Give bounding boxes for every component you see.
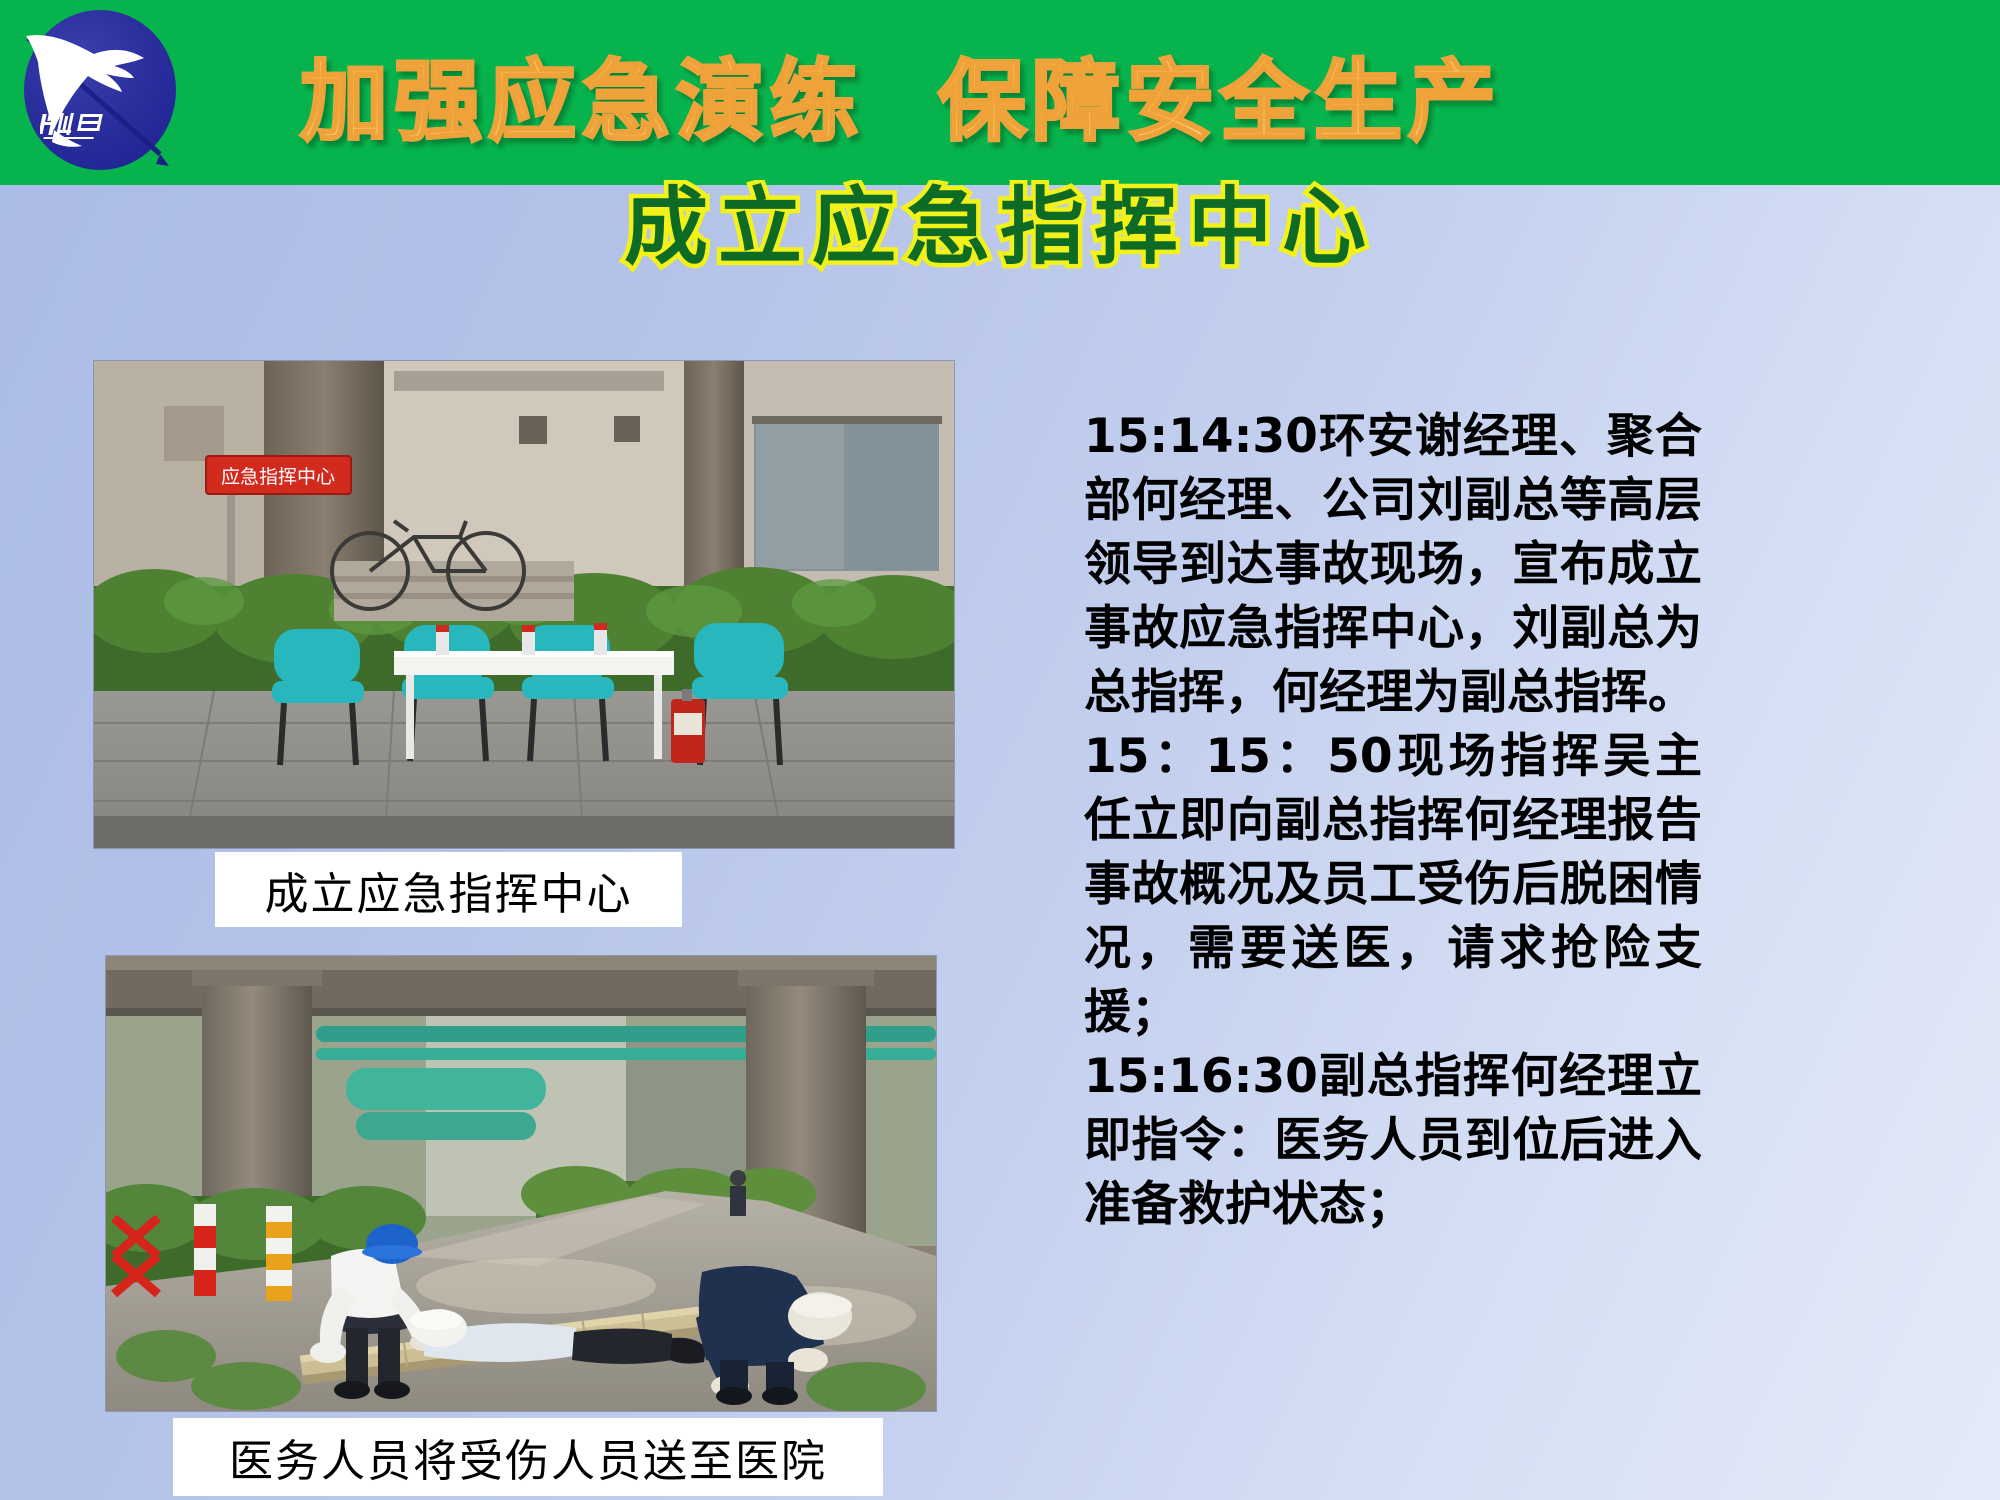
page-title-art: 成立应急指挥中心 xyxy=(0,180,2000,276)
banner-headline-right: 保障安全生产 xyxy=(938,31,1502,158)
timeline-paragraph-2: 15：15：50现场指挥吴主任立即向副总指挥何经理报告事故概况及员工受伤后脱困情… xyxy=(1084,725,1702,1045)
header-banner: 加强应急演练 保障安全生产 xyxy=(0,0,2000,185)
page-title: 成立应急指挥中心 xyxy=(0,180,2000,276)
incident-timeline-text: 15:14:30环安谢经理、聚合部何经理、公司刘副总等高层领导到达事故现场，宣布… xyxy=(1084,405,1702,1237)
injured-transport-photo xyxy=(105,955,937,1412)
timeline-paragraph-1: 15:14:30环安谢经理、聚合部何经理、公司刘副总等高层领导到达事故现场，宣布… xyxy=(1084,405,1702,725)
banner-headline-left: 加强应急演练 xyxy=(300,31,864,158)
svg-text:应急指挥中心: 应急指挥中心 xyxy=(221,466,335,488)
photo-caption-2: 医务人员将受伤人员送至医院 xyxy=(173,1418,883,1496)
timeline-paragraph-3: 15:16:30副总指挥何经理立即指令：医务人员到位后进入准备救护状态； xyxy=(1084,1045,1702,1237)
photo-caption-1: 成立应急指挥中心 xyxy=(215,852,682,927)
timestamp-3: 15:16:30 xyxy=(1084,1049,1318,1104)
banner-headline: 加强应急演练 保障安全生产 xyxy=(300,34,1990,154)
slide-canvas: 加强应急演练 保障安全生产 成立应急指挥中心 xyxy=(0,0,2000,1500)
page-title-label: 成立应急指挥中心 xyxy=(624,180,1376,276)
eagle-icon xyxy=(10,4,190,179)
company-logo xyxy=(10,4,190,179)
emergency-command-center-photo: 应急指挥中心 xyxy=(93,360,955,849)
timestamp-2: 15：15：50 xyxy=(1084,729,1393,784)
logo-wordmark xyxy=(40,108,130,142)
timestamp-1: 15:14:30 xyxy=(1084,409,1318,464)
